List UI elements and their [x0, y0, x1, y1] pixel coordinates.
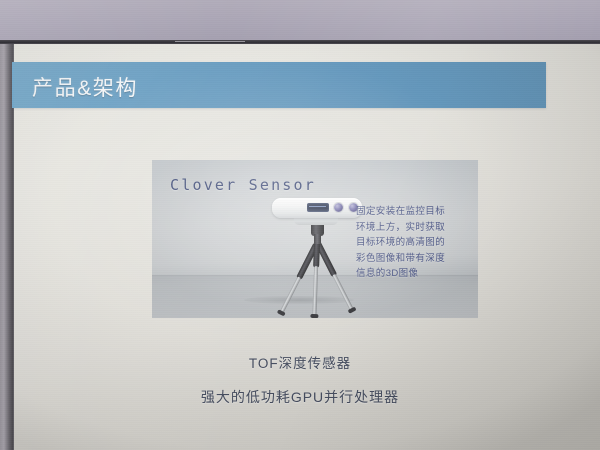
tripod-foot: [310, 314, 318, 318]
tripod-leg-lower: [332, 274, 354, 311]
tripod-icon: [272, 220, 362, 306]
product-description: 固定安装在监控目标 环境上方，实时获取 目标环境的高清图的 彩色图像和带有深度 …: [356, 204, 474, 282]
device-display-icon: [307, 203, 329, 212]
slide-photo-stage: 产品&架构 Clover Sensor: [0, 0, 600, 450]
product-name-label: Clover Sensor: [170, 176, 316, 194]
wall-sheen: [0, 0, 600, 42]
product-photo-panel: Clover Sensor: [152, 160, 478, 318]
screen-edge-highlight: [175, 41, 245, 42]
caption-tof-sensor: TOF深度传感器: [0, 352, 600, 372]
description-line: 信息的3D图像: [356, 266, 474, 282]
tripod-neck: [314, 234, 321, 244]
tripod-leg-upper: [313, 242, 320, 268]
depth-sensor-device: [272, 198, 362, 226]
caption-gpu-processor: 强大的低功耗GPU并行处理器: [0, 387, 600, 407]
description-line: 彩色图像和带有深度: [356, 251, 474, 267]
description-line: 环境上方，实时获取: [356, 220, 474, 236]
description-line: 固定安装在监控目标: [356, 204, 474, 220]
page-title: 产品&架构: [32, 72, 392, 102]
description-line: 目标环境的高清图的: [356, 235, 474, 251]
device-display-line: [309, 206, 326, 207]
camera-lens-icon: [334, 203, 343, 212]
